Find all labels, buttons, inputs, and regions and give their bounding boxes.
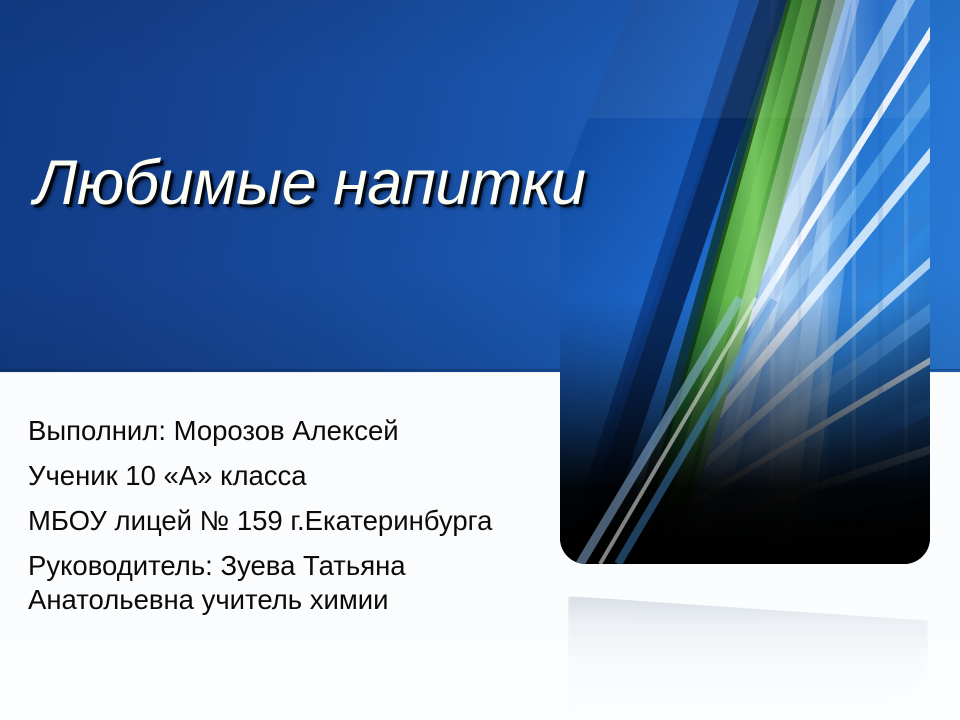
body-line-school: МБОУ лицей № 159 г.Екатеринбурга — [28, 504, 568, 538]
body-line-class: Ученик 10 «А» класса — [28, 459, 568, 493]
body-line-author: Выполнил: Морозов Алексей — [28, 414, 568, 448]
presentation-slide: Любимые напитки Выполнил: Морозов Алексе… — [0, 0, 960, 720]
slide-body-text: Выполнил: Морозов Алексей Ученик 10 «А» … — [28, 414, 568, 617]
abstract-streaks-graphic — [560, 0, 930, 564]
decorative-image-container — [560, 0, 930, 564]
abstract-blue-green-light-streaks-image — [560, 0, 930, 564]
body-line-supervisor: Руководитель: Зуева Татьяна Анатольевна … — [28, 549, 568, 617]
slide-title: Любимые напитки — [34, 150, 714, 217]
